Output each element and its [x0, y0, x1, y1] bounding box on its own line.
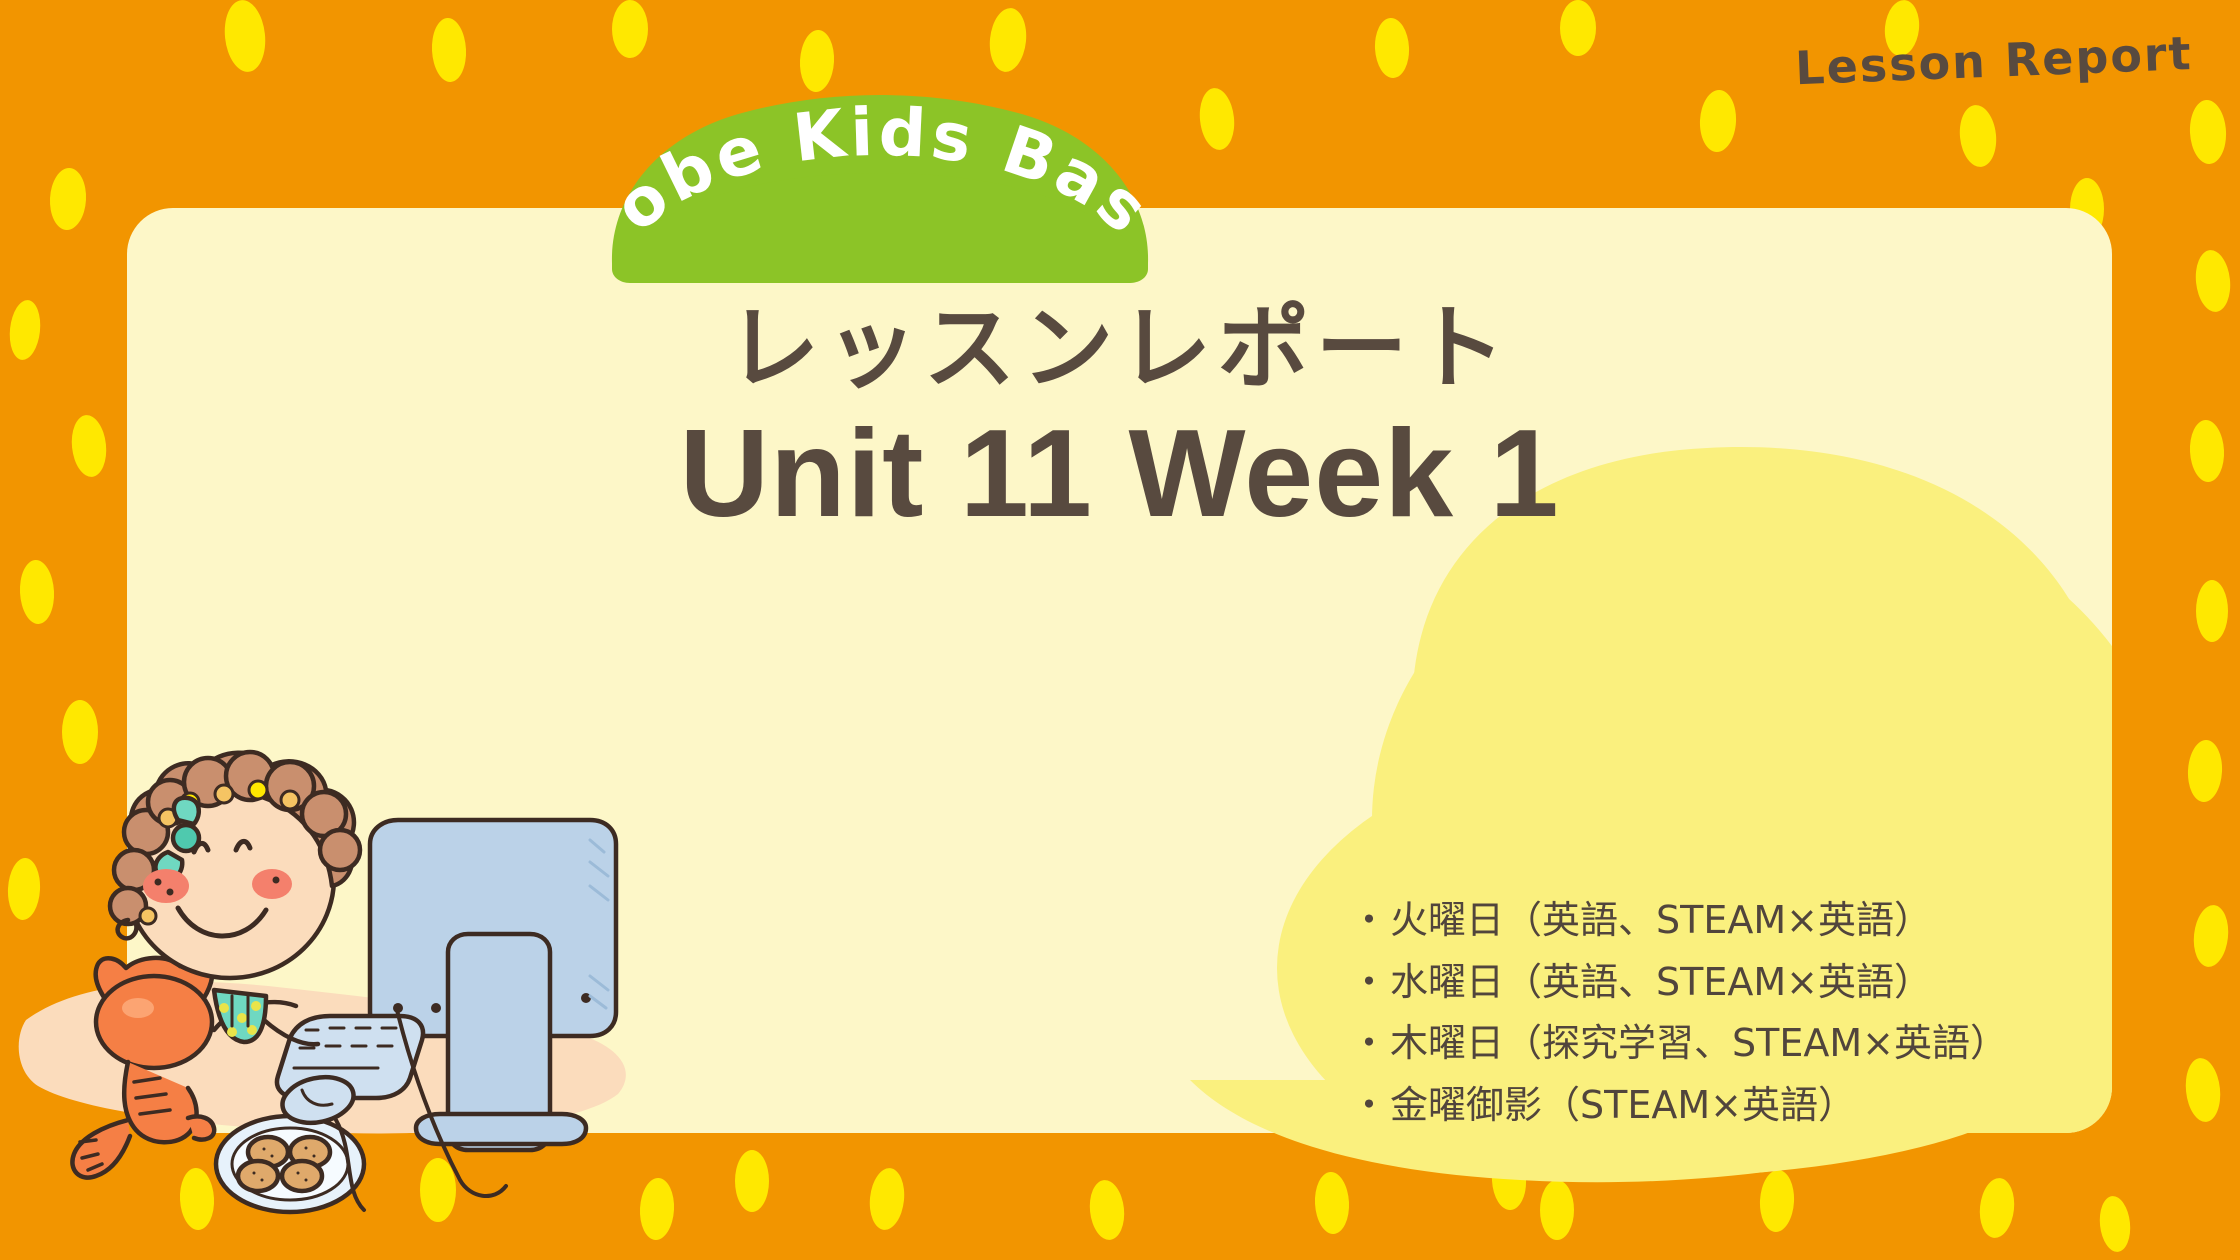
schedule-item-label: 金曜御影（STEAM×英語） — [1390, 1083, 1856, 1127]
confetti-dot — [2193, 248, 2233, 313]
schedule-item: ・火曜日（英語、STEAM×英語） — [1350, 890, 2008, 952]
confetti-dot — [2188, 419, 2225, 483]
lesson-report-kicker: Lesson Report — [1794, 26, 2193, 95]
cookie-2 — [290, 1137, 330, 1167]
confetti-dot — [7, 299, 43, 362]
confetti-dot — [735, 1150, 769, 1212]
mouse-cable — [336, 1120, 364, 1210]
confetti-dot — [2186, 739, 2223, 803]
lesson-report-slide: Kobe Kids Base Lesson Report レッスンレポート Un… — [0, 0, 2240, 1260]
cookie-chips — [254, 1148, 314, 1180]
confetti-dot — [2196, 580, 2228, 642]
bullet-icon: ・ — [1350, 1021, 1388, 1065]
cookie-3 — [238, 1161, 278, 1191]
cookie-1 — [248, 1137, 288, 1167]
cat-tail — [72, 1120, 130, 1178]
schedule-item: ・木曜日（探究学習、STEAM×英語） — [1350, 1013, 2008, 1075]
cat-tail-stripes — [80, 1140, 102, 1170]
confetti-dot — [2097, 1195, 2133, 1254]
confetti-dot — [430, 17, 467, 83]
bullet-icon: ・ — [1350, 960, 1388, 1004]
confetti-dot — [1197, 86, 1237, 151]
confetti-dot — [6, 857, 41, 921]
confetti-dot — [47, 998, 89, 1065]
confetti-dot — [1957, 103, 1999, 168]
confetti-dot — [2183, 1056, 2224, 1123]
confetti-dot — [178, 1167, 215, 1231]
confetti-dot — [987, 6, 1029, 73]
confetti-dot — [638, 1177, 675, 1241]
brand-banner: Kobe Kids Base — [600, 95, 1160, 280]
schedule-list: ・火曜日（英語、STEAM×英語）・水曜日（英語、STEAM×英語）・木曜日（探… — [1350, 890, 2008, 1136]
confetti-dot — [69, 413, 109, 478]
confetti-dot — [1087, 1178, 1127, 1241]
confetti-dot — [1698, 89, 1737, 153]
confetti-dot — [867, 1166, 907, 1231]
confetti-dot — [612, 0, 648, 58]
confetti-dot — [221, 0, 268, 74]
confetti-dot — [1560, 0, 1596, 56]
schedule-item: ・水曜日（英語、STEAM×英語） — [1350, 952, 2008, 1014]
schedule-item-label: 火曜日（英語、STEAM×英語） — [1390, 898, 1932, 942]
bullet-icon: ・ — [1350, 898, 1388, 942]
cookie-4 — [282, 1161, 322, 1191]
schedule-item-label: 木曜日（探究学習、STEAM×英語） — [1390, 1021, 2008, 1065]
confetti-dot — [1373, 17, 1410, 79]
confetti-dot — [62, 700, 98, 764]
plate-inner — [232, 1128, 348, 1200]
brand-banner-svg: Kobe Kids Base — [600, 95, 1160, 285]
schedule-item-label: 水曜日（英語、STEAM×英語） — [1390, 960, 1932, 1004]
confetti-dot — [420, 1158, 456, 1222]
schedule-item: ・金曜御影（STEAM×英語） — [1350, 1075, 2008, 1137]
bullet-icon: ・ — [1350, 1083, 1388, 1127]
confetti-dot — [798, 29, 835, 93]
confetti-dot — [18, 559, 55, 625]
confetti-dot — [48, 167, 87, 231]
confetti-dot — [2191, 903, 2231, 968]
confetti-dot — [2188, 99, 2227, 165]
